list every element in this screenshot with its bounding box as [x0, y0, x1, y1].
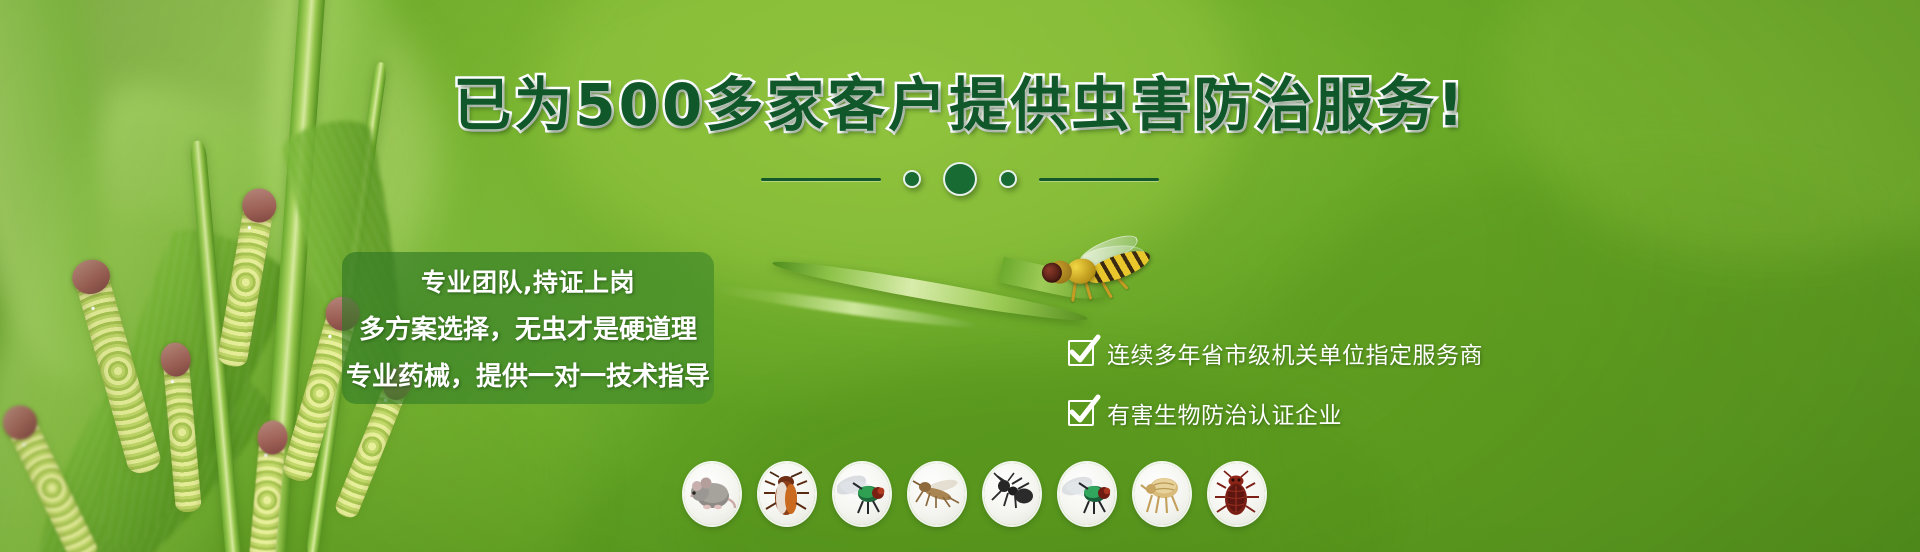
- pest-icon-strip: [684, 463, 1265, 525]
- decor-dot-small-left: [903, 170, 921, 188]
- decor-rule-right: [1039, 178, 1159, 181]
- credential-label-2: 有害生物防治认证企业: [1107, 396, 1342, 430]
- greenfly-icon[interactable]: [1059, 463, 1115, 525]
- ant-icon[interactable]: [984, 463, 1040, 525]
- credential-label-1: 连续多年省市级机关单位指定服务商: [1107, 336, 1483, 370]
- checkbox-checked-icon: [1068, 400, 1094, 426]
- selling-points-panel: 专业团队,持证上岗 多方案选择，无虫才是硬道理 专业药械，提供一对一技术指导: [342, 252, 714, 404]
- mouse-icon[interactable]: [684, 463, 740, 525]
- credential-item-1: 连续多年省市级机关单位指定服务商: [1068, 336, 1483, 370]
- decorative-divider: [0, 162, 1920, 196]
- mosquito-icon[interactable]: [909, 463, 965, 525]
- cockroach-icon[interactable]: [759, 463, 815, 525]
- promo-banner: 已为500多家客户提供虫害防治服务! 专业团队,持证上岗 多方案选择，无虫才是硬…: [0, 0, 1920, 552]
- flea-icon[interactable]: [1134, 463, 1190, 525]
- selling-point-2: 多方案选择，无虫才是硬道理: [359, 309, 697, 346]
- blowfly-icon[interactable]: [834, 463, 890, 525]
- selling-point-1: 专业团队,持证上岗: [421, 263, 635, 299]
- selling-point-3: 专业药械，提供一对一技术指导: [346, 356, 710, 393]
- decor-dot-small-right: [999, 170, 1017, 188]
- banner-headline: 已为500多家客户提供虫害防治服务!: [0, 76, 1920, 134]
- credential-item-2: 有害生物防治认证企业: [1068, 396, 1483, 430]
- decor-rule-left: [761, 178, 881, 181]
- decor-dot-large: [943, 162, 977, 196]
- bedbug-icon[interactable]: [1209, 463, 1265, 525]
- checkbox-checked-icon: [1068, 340, 1094, 366]
- credentials-list: 连续多年省市级机关单位指定服务商 有害生物防治认证企业: [1068, 336, 1483, 430]
- banner-headline-text: 已为500多家客户提供虫害防治服务!: [453, 76, 1467, 134]
